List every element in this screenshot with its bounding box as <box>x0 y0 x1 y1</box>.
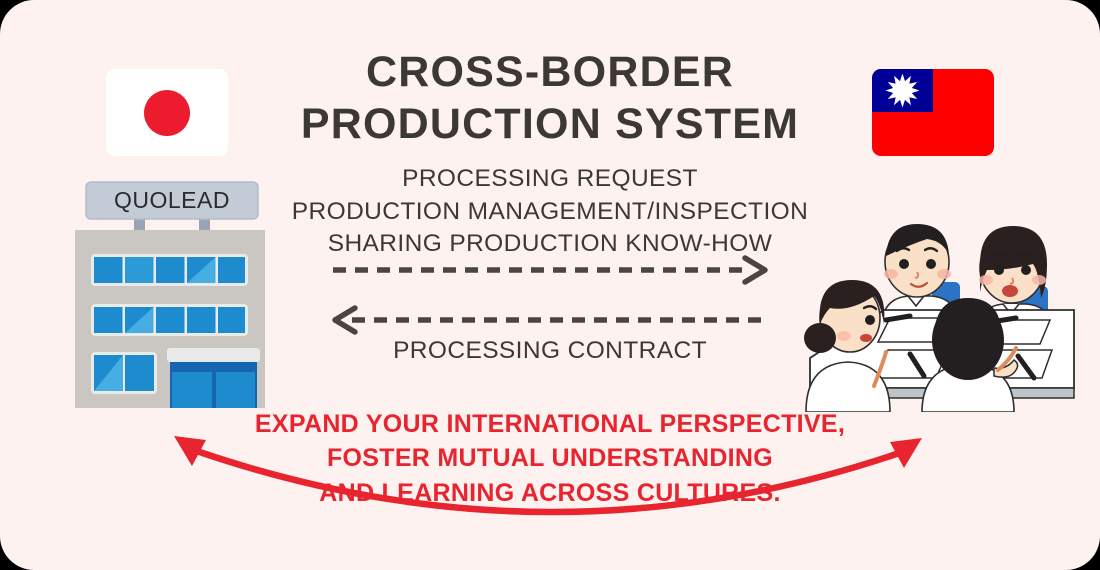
building-window-lower-left <box>91 352 157 394</box>
office-building-icon: QUOLEAD <box>72 180 272 408</box>
building-entrance <box>167 348 260 408</box>
meeting-people-icon <box>798 190 1090 412</box>
flow-line-3: SHARING PRODUCTION KNOW-HOW <box>250 228 850 261</box>
message-line-3: AND LEARNING ACROSS CULTURES. <box>200 476 900 510</box>
building-windows-row-1 <box>91 254 248 286</box>
dashed-arrow-right <box>333 258 765 282</box>
dashed-arrow-left <box>335 308 766 332</box>
flow-description: PROCESSING REQUEST PRODUCTION MANAGEMENT… <box>250 163 850 261</box>
flow-line-2: PRODUCTION MANAGEMENT/INSPECTION <box>250 196 850 229</box>
japan-flag-icon <box>106 69 228 156</box>
flow-line-1: PROCESSING REQUEST <box>250 163 850 196</box>
page-title: CROSS-BORDER PRODUCTION SYSTEM <box>250 46 850 151</box>
infographic-card: CROSS-BORDER PRODUCTION SYSTEM PROCESSIN… <box>0 0 1100 570</box>
message-block: EXPAND YOUR INTERNATIONAL PERSPECTIVE, F… <box>200 407 900 510</box>
message-line-1: EXPAND YOUR INTERNATIONAL PERSPECTIVE, <box>200 407 900 441</box>
title-line-2: PRODUCTION SYSTEM <box>250 98 850 150</box>
building-windows-row-2 <box>91 304 248 336</box>
processing-contract-label: PROCESSING CONTRACT <box>250 337 850 365</box>
taiwan-flag-icon <box>872 69 994 156</box>
japan-flag-disc <box>144 90 190 136</box>
building-sign-label: QUOLEAD <box>114 187 230 213</box>
message-line-2: FOSTER MUTUAL UNDERSTANDING <box>200 441 900 475</box>
title-line-1: CROSS-BORDER <box>250 46 850 98</box>
taiwan-flag-sun-icon <box>872 69 994 156</box>
